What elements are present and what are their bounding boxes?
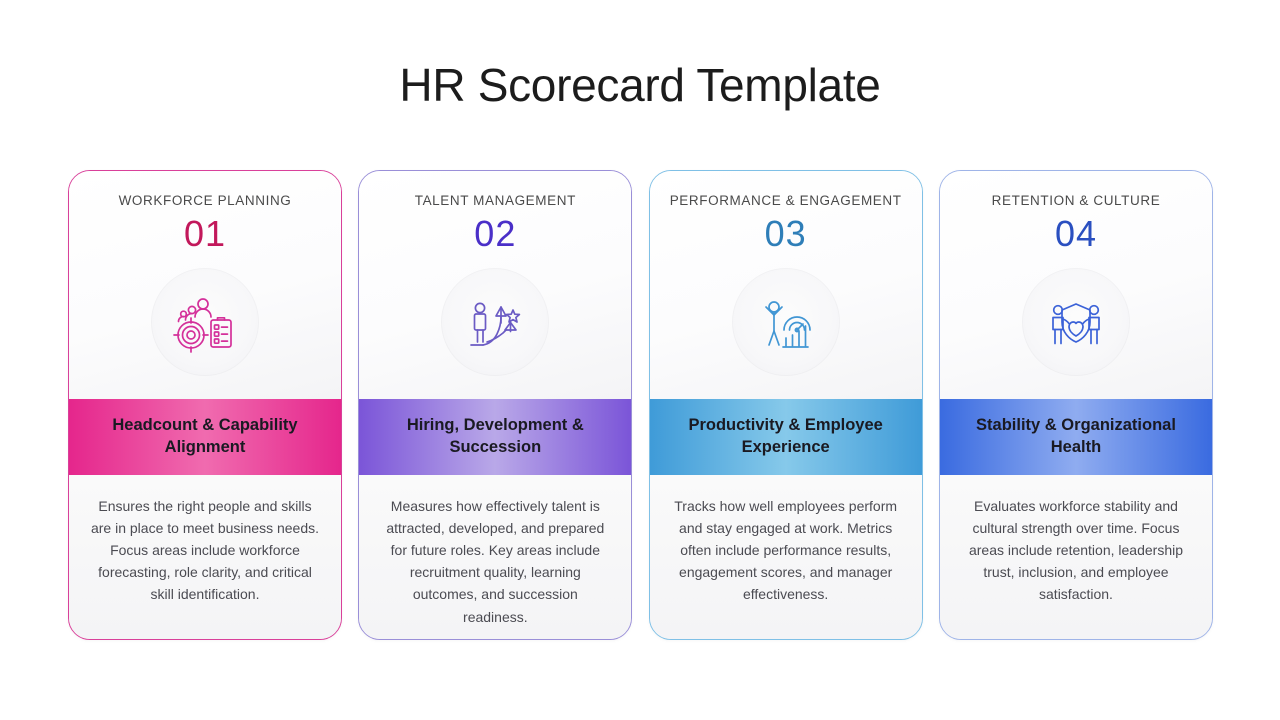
card-talent-management[interactable]: TALENT MANAGEMENT 02 [358,170,632,640]
card-description: Measures how effectively talent is attra… [359,475,631,639]
card-performance-engagement[interactable]: PERFORMANCE & ENGAGEMENT 03 [649,170,923,640]
card-label: PERFORMANCE & ENGAGEMENT [670,193,902,208]
icon-circle [732,268,840,376]
card-banner-text: Productivity & Employee Experience [666,415,906,459]
card-number: 04 [1055,212,1097,256]
retention-heart-shield-icon [1044,290,1108,354]
card-number: 01 [184,212,226,256]
card-list: WORKFORCE PLANNING 01 [68,170,1213,640]
card-banner: Hiring, Development & Succession [359,399,631,475]
card-description: Evaluates workforce stability and cultur… [940,475,1212,639]
performance-gauge-chart-icon [754,290,818,354]
card-header: PERFORMANCE & ENGAGEMENT 03 [650,171,922,399]
card-workforce-planning[interactable]: WORKFORCE PLANNING 01 [68,170,342,640]
card-banner: Headcount & Capability Alignment [69,399,341,475]
card-banner: Stability & Organizational Health [940,399,1212,475]
card-description: Tracks how well employees perform and st… [650,475,922,639]
icon-circle [1022,268,1130,376]
card-label: TALENT MANAGEMENT [415,193,576,208]
workforce-target-clipboard-icon [173,290,237,354]
card-header: WORKFORCE PLANNING 01 [69,171,341,399]
card-label: WORKFORCE PLANNING [119,193,292,208]
page-title: HR Scorecard Template [0,58,1280,112]
card-label: RETENTION & CULTURE [992,193,1161,208]
talent-growth-star-icon [463,290,527,354]
card-banner: Productivity & Employee Experience [650,399,922,475]
card-retention-culture[interactable]: RETENTION & CULTURE 04 [939,170,1213,640]
icon-circle [151,268,259,376]
card-description: Ensures the right people and skills are … [69,475,341,639]
card-header: TALENT MANAGEMENT 02 [359,171,631,399]
card-banner-text: Hiring, Development & Succession [375,415,615,459]
icon-circle [441,268,549,376]
card-header: RETENTION & CULTURE 04 [940,171,1212,399]
card-number: 02 [474,212,516,256]
card-number: 03 [765,212,807,256]
card-banner-text: Headcount & Capability Alignment [85,415,325,459]
slide: HR Scorecard Template WORKFORCE PLANNING… [0,0,1280,720]
card-banner-text: Stability & Organizational Health [956,415,1196,459]
